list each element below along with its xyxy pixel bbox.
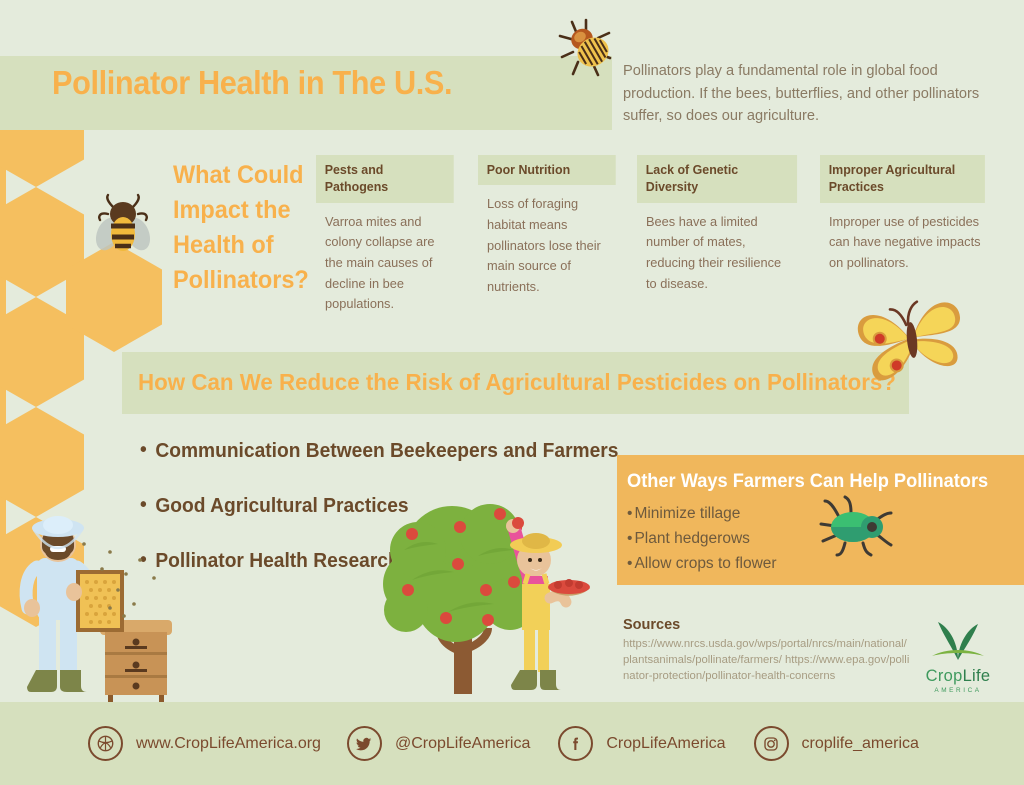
dribbble-icon: [88, 726, 123, 761]
footer-label: CropLifeAmerica: [606, 735, 725, 753]
intro-paragraph: Pollinators play a fundamental role in g…: [623, 60, 993, 128]
honeybee-icon: [92, 192, 154, 260]
card-body: Improper use of pesticides can have nega…: [820, 203, 990, 274]
impact-card: Pests and Pathogens Varroa mites and col…: [316, 155, 458, 315]
apple-tree-with-farmer-illustration: [382, 492, 610, 700]
logo-crop: Crop: [926, 667, 963, 685]
list-item: Plant hedgerows: [627, 526, 777, 551]
footer-item-website[interactable]: www.CropLifeAmerica.org: [88, 726, 321, 761]
list-item: Minimize tillage: [627, 501, 777, 526]
butterfly-icon: [848, 288, 976, 392]
green-beetle-icon: [817, 495, 895, 557]
list-item: Communication Between Beekeepers and Far…: [140, 440, 618, 463]
card-body: Loss of foraging habitat means pollinato…: [478, 185, 620, 298]
impact-card: Improper Agricultural Practices Improper…: [820, 155, 990, 274]
footer-item-facebook[interactable]: CropLifeAmerica: [558, 726, 725, 761]
card-title: Improper Agricultural Practices: [820, 155, 985, 203]
reduce-risk-heading: How Can We Reduce the Risk of Agricultur…: [138, 369, 896, 396]
infographic-page: Pollinator Health in The U.S. Pollinator…: [0, 0, 1024, 785]
footer-item-instagram[interactable]: croplife_america: [754, 726, 919, 761]
other-ways-box: Other Ways Farmers Can Help Pollinators …: [617, 455, 1024, 585]
card-body: Varroa mites and colony collapse are the…: [316, 203, 458, 316]
sources-title: Sources: [623, 617, 913, 633]
list-item: Allow crops to flower: [627, 551, 777, 576]
footer-bar: www.CropLifeAmerica.org @CropLifeAmerica…: [0, 702, 1024, 785]
instagram-icon: [754, 726, 789, 761]
sources-urls: https://www.nrcs.usda.gov/wps/portal/nrc…: [623, 636, 913, 684]
impact-card: Lack of Genetic Diversity Bees have a li…: [637, 155, 802, 294]
beekeeper-with-hive-illustration: [12, 512, 182, 702]
facebook-icon: [558, 726, 593, 761]
footer-label: www.CropLifeAmerica.org: [136, 735, 321, 753]
card-title: Pests and Pathogens: [316, 155, 454, 203]
impact-card: Poor Nutrition Loss of foraging habitat …: [478, 155, 620, 298]
impact-heading: What Could Impact the Health of Pollinat…: [173, 158, 314, 298]
twitter-icon: [347, 726, 382, 761]
footer-item-twitter[interactable]: @CropLifeAmerica: [347, 726, 530, 761]
sprout-icon: [928, 620, 988, 664]
logo-sub: AMERICA: [905, 687, 1011, 694]
page-title: Pollinator Health in The U.S.: [52, 64, 452, 102]
croplife-america-logo: CropLife AMERICA: [905, 620, 1011, 698]
footer-label: @CropLifeAmerica: [395, 735, 530, 753]
other-ways-title: Other Ways Farmers Can Help Pollinators: [627, 471, 988, 493]
potato-beetle-icon: [553, 12, 623, 82]
card-body: Bees have a limited number of mates, red…: [637, 203, 802, 295]
logo-life: Life: [963, 667, 991, 685]
sources-block: Sources https://www.nrcs.usda.gov/wps/po…: [623, 617, 913, 684]
footer-label: croplife_america: [802, 735, 919, 753]
card-title: Poor Nutrition: [478, 155, 616, 185]
card-title: Lack of Genetic Diversity: [637, 155, 797, 203]
